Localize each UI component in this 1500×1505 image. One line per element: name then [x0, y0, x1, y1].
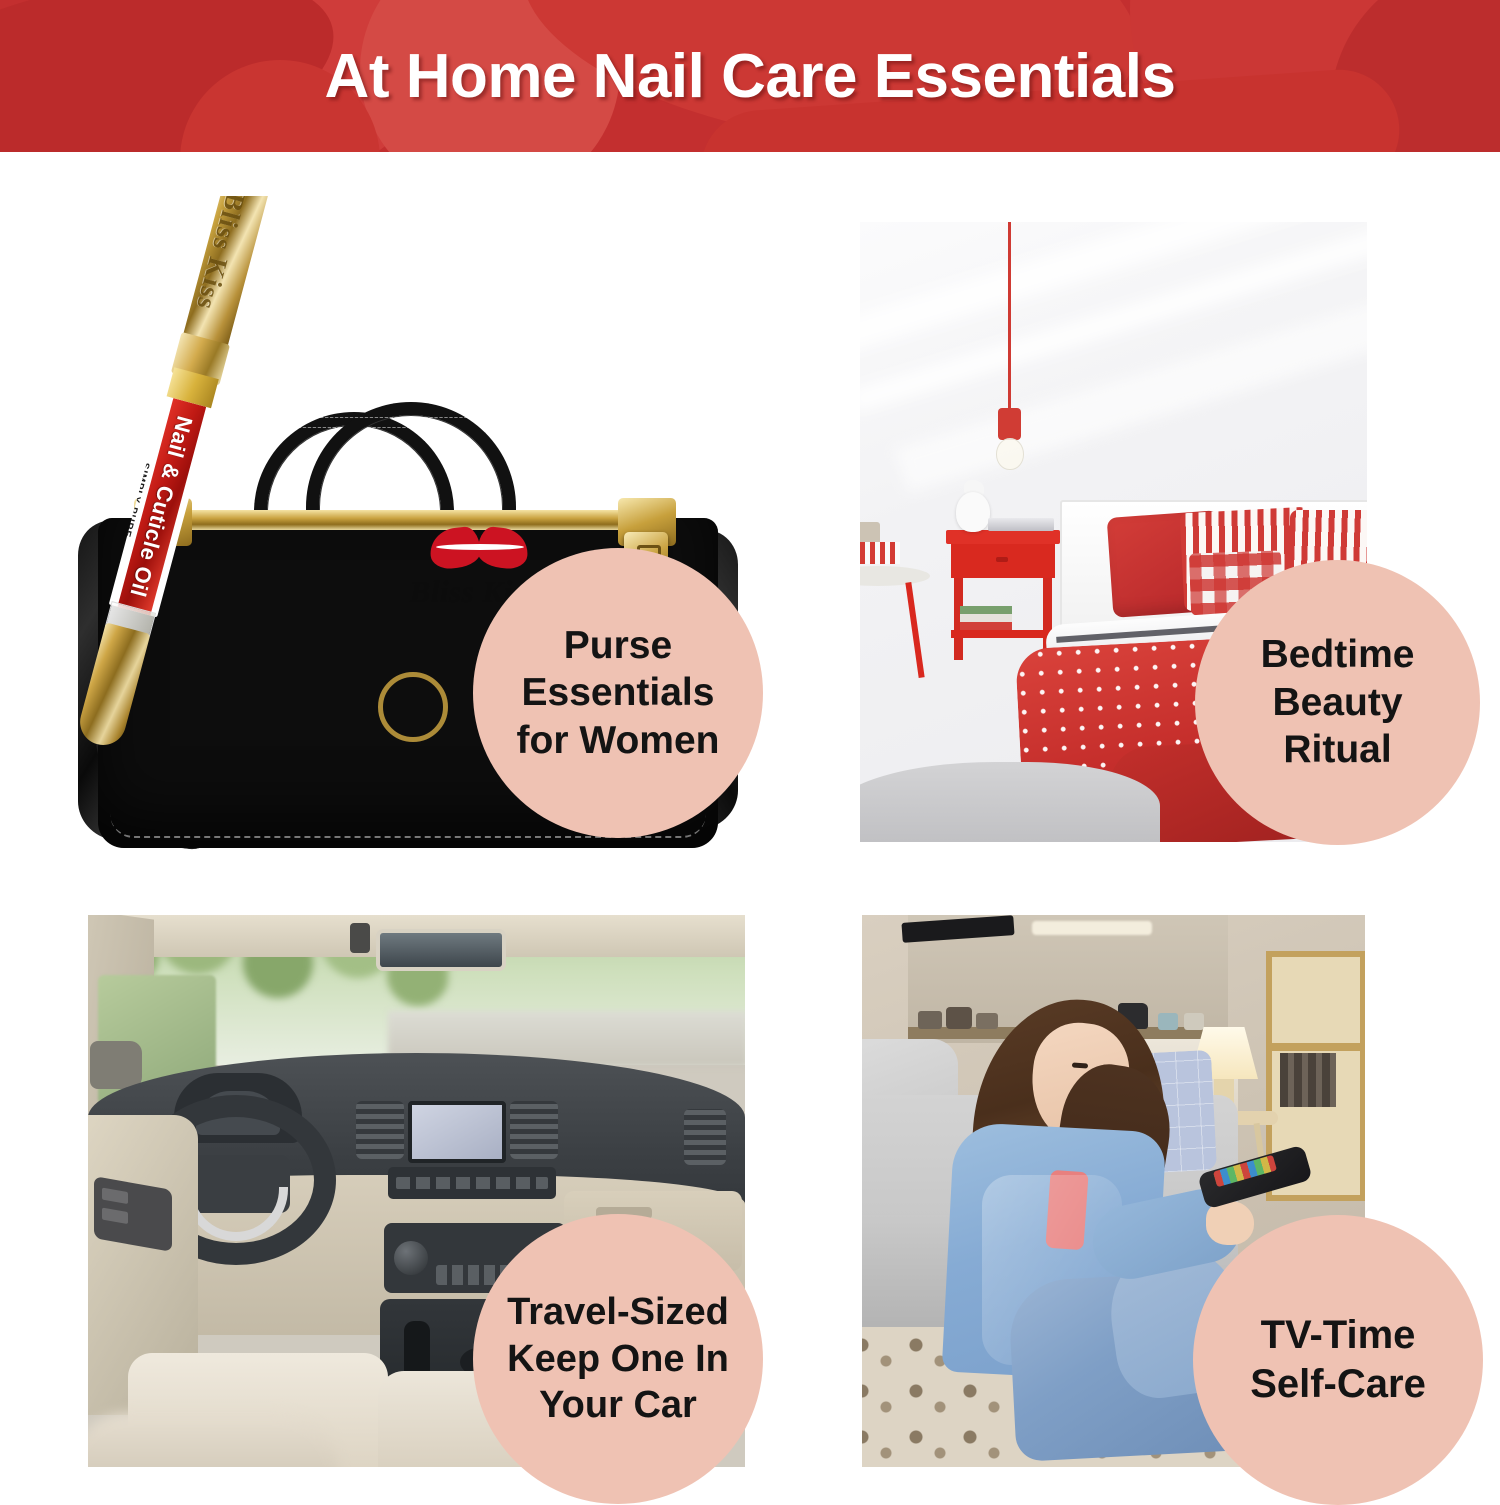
book-stack-shelf — [960, 614, 1012, 622]
infotainment-screen — [408, 1101, 506, 1163]
badge-line: Essentials — [505, 669, 732, 717]
nightstand-knob — [996, 557, 1008, 562]
ceiling-light — [1032, 921, 1152, 935]
climate-knob — [394, 1241, 428, 1275]
badge-line: TV-Time — [1238, 1311, 1438, 1360]
badge-line: Keep One In — [495, 1336, 741, 1382]
badge-bedtime-ritual: Bedtime Beauty Ritual — [1195, 560, 1480, 845]
foreground-seat-blur — [88, 1413, 338, 1467]
badge-line: Travel-Sized — [495, 1289, 741, 1335]
badge-line: Self-Care — [1238, 1360, 1438, 1409]
badge-line: Purse — [505, 622, 732, 670]
page-title: At Home Nail Care Essentials — [0, 0, 1500, 152]
shelf-books — [1280, 1053, 1336, 1107]
red-nightstand — [946, 530, 1060, 660]
side-chair — [860, 552, 930, 682]
chair-seat — [860, 566, 930, 586]
badge-tv-time-self-care: TV-Time Self-Care — [1193, 1215, 1483, 1505]
woman-eye — [1072, 1062, 1088, 1068]
air-vent — [684, 1109, 726, 1165]
pendant-lamp-bulb — [996, 438, 1024, 470]
kitchen-pot — [976, 1013, 998, 1029]
rearview-mirror — [376, 929, 506, 971]
red-lips-icon — [430, 526, 530, 570]
handbag-gold-ring — [378, 672, 448, 742]
badge-line: for Women — [505, 717, 732, 765]
mug — [1158, 1013, 1178, 1030]
book-stack-top — [988, 518, 1054, 531]
nightstand-shelf — [951, 630, 1055, 638]
car-side-mirror — [90, 1041, 142, 1089]
radio-controls — [388, 1167, 556, 1199]
pendant-lamp-cord — [1008, 222, 1011, 412]
air-vent — [510, 1101, 558, 1159]
white-vase — [956, 492, 990, 532]
badge-purse-essentials: Purse Essentials for Women — [473, 548, 763, 838]
gray-rug — [860, 762, 1160, 842]
nightstand-top — [946, 530, 1060, 544]
shelf-divider — [1272, 1043, 1360, 1051]
badge-line: Bedtime — [1249, 631, 1427, 679]
badge-travel-sized: Travel-Sized Keep One In Your Car — [473, 1214, 763, 1504]
kitchen-pot — [918, 1011, 942, 1029]
badge-line: Your Car — [495, 1382, 741, 1428]
woman-hand — [1206, 1201, 1254, 1245]
header-banner: At Home Nail Care Essentials — [0, 0, 1500, 152]
kitchen-pot — [946, 1007, 972, 1029]
chair-leg — [905, 582, 924, 678]
mug — [1184, 1013, 1204, 1030]
book-stack-shelf — [960, 622, 1012, 630]
pendant-lamp-socket — [998, 408, 1021, 440]
badge-line: Ritual — [1249, 726, 1427, 774]
air-vent — [356, 1101, 404, 1159]
rearview-mirror-arm — [350, 923, 370, 953]
badge-line: Beauty — [1249, 679, 1427, 727]
